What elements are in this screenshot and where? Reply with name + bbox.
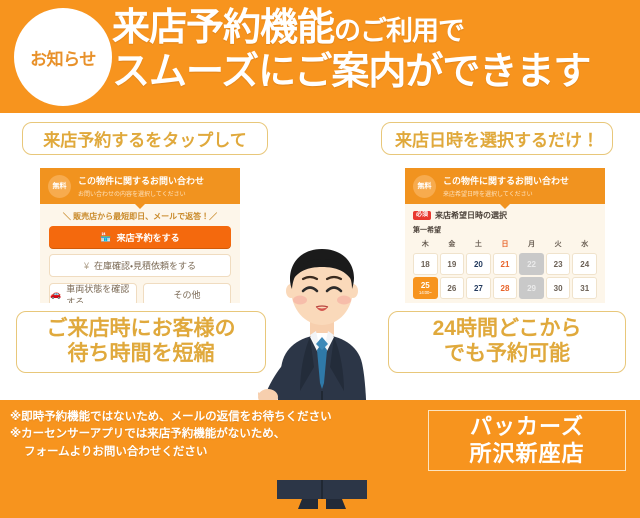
banner-root: お知らせ 来店予約機能のご利用で スムーズにご案内ができます 来店予約するをタッ… [0, 0, 640, 480]
calendar-day-24[interactable]: 24 [572, 253, 597, 275]
mock-left-button-row: 🚗 車両状態を確認する その他 [49, 283, 231, 303]
mock-right-header: 無料 この物件に関するお問い合わせ 来店希望日時を選択してください [405, 168, 605, 204]
required-badge: 必須 [413, 211, 431, 220]
caret-down-icon [135, 204, 145, 209]
headline-line2: スムーズにご案内ができます [112, 52, 636, 92]
calendar-day-number: 18 [421, 260, 430, 269]
headline-line1: 来店予約機能のご利用で [112, 8, 636, 48]
callout-bottom-left-line1: ご来店時にお客様の [47, 317, 236, 342]
mock-right-header-title: この物件に関するお問い合わせ [443, 174, 569, 187]
caret-down-icon [500, 204, 510, 209]
calendar-weekday-日: 日 [493, 238, 518, 251]
callout-bottom-right-line2: でも予約可能 [444, 342, 570, 367]
calendar-day-number: 23 [554, 260, 563, 269]
calendar-day-31[interactable]: 31 [572, 277, 597, 299]
headline-line1-main: 来店予約機能 [112, 7, 334, 49]
stock-quote-button[interactable]: ¥ 在庫確認・見積依頼をする [49, 254, 231, 277]
calendar-day-22: 22 [519, 253, 544, 275]
mock-screenshot-calendar: 無料 この物件に関するお問い合わせ 来店希望日時を選択してください 必須 来店希… [405, 168, 605, 303]
car-icon: 🚗 [50, 289, 61, 300]
callout-bottom-left: ご来店時にお客様の 待ち時間を短縮 [16, 311, 266, 373]
calendar-day-25[interactable]: 2514:00~ [413, 277, 438, 299]
calendar-day-number: 19 [447, 260, 456, 269]
calendar-day-number: 31 [580, 284, 589, 293]
vehicle-condition-button[interactable]: 🚗 車両状態を確認する [49, 283, 137, 303]
calendar-weekday-金: 金 [440, 238, 465, 251]
calendar-weekday-月: 月 [519, 238, 544, 251]
calendar-day-26[interactable]: 26 [440, 277, 465, 299]
headline: 来店予約機能のご利用で スムーズにご案内ができます [112, 8, 636, 93]
calendar-day-time: 14:00~ [419, 290, 432, 295]
store-name-line2: 所沢新座店 [469, 441, 584, 468]
calendar-day-18[interactable]: 18 [413, 253, 438, 275]
callout-top-left: 来店予約するをタップして [22, 122, 268, 155]
footer-note-1: ※即時予約機能ではないため、メールの返信をお待ちください [10, 409, 420, 426]
other-button[interactable]: その他 [143, 283, 231, 303]
reserve-visit-button-label: 来店予約をする [117, 231, 180, 244]
stock-quote-button-label: 在庫確認・見積依頼をする [94, 259, 196, 272]
free-badge-icon: 無料 [48, 175, 71, 198]
footer-note-3: フォームよりお問い合わせください [10, 444, 420, 461]
calendar-weekday-水: 水 [572, 238, 597, 251]
mock-right-header-text: この物件に関するお問い合わせ 来店希望日時を選択してください [443, 174, 569, 198]
calendar-day-27[interactable]: 27 [466, 277, 491, 299]
mock-left-header-sub: お問い合わせの内容を選択してください [78, 189, 204, 198]
yen-icon: ¥ [84, 261, 89, 271]
callout-top-left-label: 来店予約するをタップして [43, 126, 247, 151]
banner-footer: ※即時予約機能ではないため、メールの返信をお待ちください ※カーセンサーアプリで… [0, 400, 640, 480]
mock-screenshot-inquiry: 無料 この物件に関するお問い合わせ お問い合わせの内容を選択してください ＼ 販… [40, 168, 240, 303]
calendar-weekday-土: 土 [466, 238, 491, 251]
calendar-day-number: 22 [527, 260, 536, 269]
footer-note-2: ※カーセンサーアプリでは来店予約機能がないため、 [10, 426, 420, 443]
calendar-day-23[interactable]: 23 [546, 253, 571, 275]
free-badge-icon: 無料 [413, 175, 436, 198]
calendar-day-number: 28 [501, 284, 510, 293]
vehicle-condition-button-label: 車両状態を確認する [66, 282, 136, 304]
mock-left-header: 無料 この物件に関するお問い合わせ お問い合わせの内容を選択してください [40, 168, 240, 204]
free-badge-label: 無料 [53, 181, 67, 191]
mock-left-header-text: この物件に関するお問い合わせ お問い合わせの内容を選択してください [78, 174, 204, 198]
calendar-day-28[interactable]: 28 [493, 277, 518, 299]
mock-left-header-title: この物件に関するお問い合わせ [78, 174, 204, 187]
notice-badge-label: お知らせ [30, 45, 96, 70]
notice-badge: お知らせ [14, 8, 112, 106]
banner-header: お知らせ 来店予約機能のご利用で スムーズにご案内ができます [0, 0, 640, 113]
calendar-day-number: 30 [554, 284, 563, 293]
store-name-box: パッカーズ 所沢新座店 [428, 410, 626, 471]
calendar-title-row: 必須 来店希望日時の選択 [413, 210, 597, 221]
calendar-weekday-木: 木 [413, 238, 438, 251]
mock-right-header-sub: 来店希望日時を選択してください [443, 189, 569, 198]
callout-bottom-right-line1: 24時間どこから [433, 317, 582, 342]
calendar-title-label: 来店希望日時の選択 [435, 210, 507, 221]
headline-line1-tail: のご利用で [334, 16, 464, 46]
calendar-day-number: 20 [474, 260, 483, 269]
calendar-day-number: 25 [421, 281, 430, 290]
calendar-day-19[interactable]: 19 [440, 253, 465, 275]
reserve-visit-button[interactable]: 🏪 来店予約をする [49, 226, 231, 248]
store-icon: 🏪 [100, 232, 111, 243]
preference-label: 第一希望 [413, 225, 597, 235]
callout-bottom-left-line2: 待ち時間を短縮 [68, 342, 215, 367]
calendar-day-21[interactable]: 21 [493, 253, 518, 275]
calendar-grid: 木金土日月火水181920212223242514:00~26272829303… [413, 238, 597, 299]
calendar-day-number: 29 [527, 284, 536, 293]
calendar-day-30[interactable]: 30 [546, 277, 571, 299]
calendar-day-number: 26 [447, 284, 456, 293]
other-button-label: その他 [173, 288, 200, 301]
callout-bottom-right: 24時間どこから でも予約可能 [388, 311, 626, 373]
callout-top-right: 来店日時を選択するだけ！ [381, 122, 613, 155]
calendar-day-20[interactable]: 20 [466, 253, 491, 275]
calendar-panel: 必須 来店希望日時の選択 第一希望 木金土日月火水181920212223242… [405, 204, 605, 299]
calendar-day-number: 24 [580, 260, 589, 269]
banner-body: 来店予約するをタップして 来店日時を選択するだけ！ ご来店時にお客様の 待ち時間… [0, 113, 640, 400]
store-name-line1: パッカーズ [470, 414, 584, 441]
calendar-weekday-火: 火 [546, 238, 571, 251]
free-badge-label: 無料 [418, 181, 432, 191]
footer-notes: ※即時予約機能ではないため、メールの返信をお待ちください ※カーセンサーアプリで… [10, 409, 420, 461]
calendar-day-number: 27 [474, 284, 483, 293]
callout-top-right-label: 来店日時を選択するだけ！ [395, 126, 599, 151]
calendar-day-number: 21 [501, 260, 510, 269]
calendar-day-29: 29 [519, 277, 544, 299]
